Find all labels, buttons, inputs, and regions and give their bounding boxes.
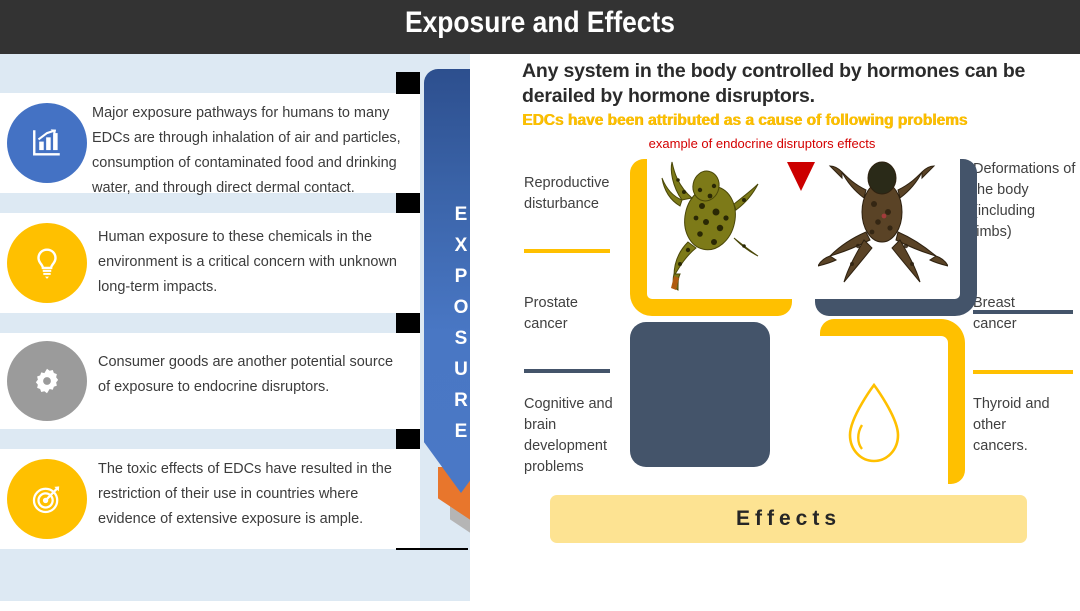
label-prostate-cancer: Prostate cancer bbox=[524, 293, 604, 335]
divider-yellow-right bbox=[973, 370, 1073, 374]
card-marker-3 bbox=[396, 313, 420, 333]
label-reproductive-disturbance: Reproductive disturbance bbox=[524, 173, 619, 215]
right-panel-caption: example of endocrine disruptors effects bbox=[522, 136, 1002, 151]
effects-banner: Effects bbox=[550, 495, 1027, 543]
gear-icon bbox=[7, 341, 87, 421]
bar-chart-icon bbox=[7, 103, 87, 183]
image-green-spotted-frog bbox=[648, 156, 766, 291]
exposure-item-1-text: Major exposure pathways for humans to ma… bbox=[92, 101, 410, 201]
exposure-item-1[interactable]: Major exposure pathways for humans to ma… bbox=[0, 93, 420, 193]
label-breast-cancer: Breast cancer bbox=[973, 293, 1053, 335]
exposure-item-3-text: Consumer goods are another potential sou… bbox=[98, 350, 398, 400]
exposure-item-2[interactable]: Human exposure to these chemicals in the… bbox=[0, 213, 420, 313]
card-marker-4 bbox=[396, 429, 420, 449]
right-panel-heading: Any system in the body controlled by hor… bbox=[522, 59, 1067, 109]
divider-slate-left bbox=[524, 369, 610, 373]
image-solid-slate-box bbox=[630, 322, 770, 467]
label-thyroid-other-cancers: Thyroid and other cancers. bbox=[973, 394, 1063, 457]
right-panel-subheading: EDCs have been attributed as a cause of … bbox=[522, 112, 1067, 130]
exposure-item-4[interactable]: The toxic effects of EDCs have resulted … bbox=[0, 449, 420, 549]
page-title: Exposure and Effects bbox=[65, 6, 1015, 40]
title-bar: Exposure and Effects bbox=[0, 0, 1080, 54]
image-brown-deformed-frog bbox=[818, 154, 948, 294]
right-panel: Any system in the body controlled by hor… bbox=[470, 54, 1080, 611]
card-marker-2 bbox=[396, 193, 420, 213]
lightbulb-icon bbox=[7, 223, 87, 303]
card-marker-1 bbox=[396, 72, 420, 94]
exposure-item-2-text: Human exposure to these chemicals in the… bbox=[98, 225, 398, 300]
target-icon bbox=[7, 459, 87, 539]
divider-yellow-left bbox=[524, 249, 610, 253]
exposure-item-4-text: The toxic effects of EDCs have resulted … bbox=[98, 457, 410, 532]
exposure-item-3[interactable]: Consumer goods are another potential sou… bbox=[0, 333, 420, 429]
water-droplet-icon bbox=[840, 379, 908, 469]
label-deformations-of-body: Deformations of the body (including limb… bbox=[973, 159, 1077, 243]
label-cognitive-brain-development: Cognitive and brain development problems bbox=[524, 394, 624, 478]
